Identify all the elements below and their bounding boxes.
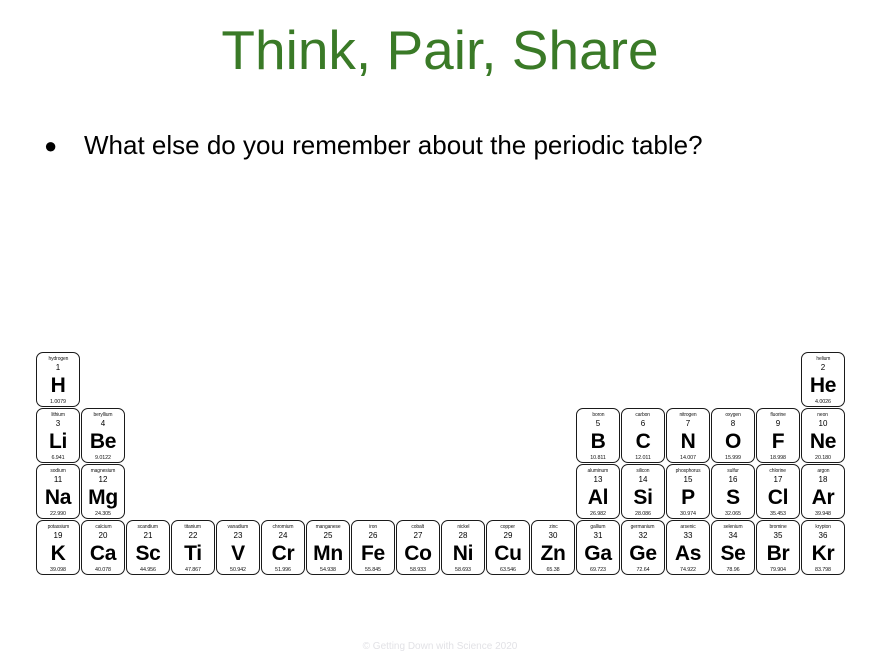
element-symbol: He xyxy=(810,374,836,398)
element-atomic-mass: 14.007 xyxy=(680,455,696,462)
element-name: gallium xyxy=(591,524,606,531)
element-cell: titanium22Ti47.867 xyxy=(171,520,215,575)
element-symbol: V xyxy=(231,542,245,566)
element-symbol: Be xyxy=(90,430,116,454)
element-name: neon xyxy=(818,412,829,419)
element-atomic-number: 21 xyxy=(144,531,153,541)
element-atomic-mass: 39.098 xyxy=(50,567,66,574)
element-name: nitrogen xyxy=(679,412,696,419)
element-name: copper xyxy=(501,524,516,531)
element-symbol: P xyxy=(681,486,695,510)
element-cell: copper29Cu63.546 xyxy=(486,520,530,575)
element-symbol: Se xyxy=(720,542,745,566)
element-cell: vanadium23V50.942 xyxy=(216,520,260,575)
element-symbol: Ge xyxy=(629,542,656,566)
element-atomic-number: 26 xyxy=(369,531,378,541)
element-name: oxygen xyxy=(725,412,740,419)
element-atomic-mass: 18.998 xyxy=(770,455,786,462)
element-symbol: Si xyxy=(633,486,652,510)
element-atomic-mass: 4.0026 xyxy=(815,399,831,406)
element-cell: calcium20Ca40.078 xyxy=(81,520,125,575)
element-cell: arsenic33As74.922 xyxy=(666,520,710,575)
element-name: arsenic xyxy=(680,524,695,531)
element-atomic-number: 18 xyxy=(819,475,828,485)
element-cell: nickel28Ni58.693 xyxy=(441,520,485,575)
element-cell: chromium24Cr51.996 xyxy=(261,520,305,575)
element-name: zinc xyxy=(549,524,557,531)
element-symbol: Sc xyxy=(135,542,160,566)
element-cell: aluminum13Al26.982 xyxy=(576,464,620,519)
element-symbol: Fe xyxy=(361,542,385,566)
element-name: magnesium xyxy=(91,468,116,475)
element-atomic-number: 33 xyxy=(684,531,693,541)
element-symbol: Ne xyxy=(810,430,836,454)
element-name: manganese xyxy=(316,524,341,531)
element-cell: argon18Ar39.948 xyxy=(801,464,845,519)
element-symbol: As xyxy=(675,542,701,566)
element-symbol: Zn xyxy=(540,542,565,566)
footer-credit: © Getting Down with Science 2020 xyxy=(0,640,880,653)
element-atomic-number: 8 xyxy=(731,419,735,429)
element-atomic-mass: 79.904 xyxy=(770,567,786,574)
element-atomic-number: 9 xyxy=(776,419,780,429)
element-name: selenium xyxy=(724,524,743,531)
element-atomic-mass: 20.180 xyxy=(815,455,831,462)
element-name: potassium xyxy=(47,524,69,531)
element-atomic-mass: 30.974 xyxy=(680,511,696,518)
element-atomic-number: 31 xyxy=(594,531,603,541)
element-atomic-mass: 74.922 xyxy=(680,567,696,574)
element-name: aluminum xyxy=(588,468,609,475)
element-symbol: Mn xyxy=(313,542,343,566)
element-atomic-mass: 44.956 xyxy=(140,567,156,574)
element-cell: selenium34Se78.96 xyxy=(711,520,755,575)
element-name: nickel xyxy=(457,524,469,531)
element-name: hydrogen xyxy=(48,356,68,363)
element-name: sodium xyxy=(50,468,65,475)
element-symbol: Cl xyxy=(768,486,788,510)
element-symbol: Cr xyxy=(272,542,295,566)
element-atomic-mass: 83.798 xyxy=(815,567,831,574)
element-name: iron xyxy=(369,524,377,531)
element-atomic-number: 4 xyxy=(101,419,105,429)
element-symbol: Cu xyxy=(494,542,521,566)
periodic-table: hydrogen1H1.0079helium2He4.0026lithium3L… xyxy=(36,352,846,580)
page-title: Think, Pair, Share xyxy=(0,18,880,82)
element-symbol: Co xyxy=(404,542,431,566)
element-atomic-number: 34 xyxy=(729,531,738,541)
element-symbol: O xyxy=(725,430,741,454)
element-atomic-number: 19 xyxy=(54,531,63,541)
element-name: krypton xyxy=(815,524,830,531)
element-atomic-number: 22 xyxy=(189,531,198,541)
element-atomic-number: 23 xyxy=(234,531,243,541)
element-cell: phosphorus15P30.974 xyxy=(666,464,710,519)
element-atomic-mass: 40.078 xyxy=(95,567,111,574)
element-cell: fluorine9F18.998 xyxy=(756,408,800,463)
element-atomic-mass: 78.96 xyxy=(727,567,740,574)
element-atomic-mass: 65.38 xyxy=(547,567,560,574)
element-atomic-mass: 58.933 xyxy=(410,567,426,574)
element-atomic-number: 2 xyxy=(821,363,825,373)
element-name: silicon xyxy=(636,468,649,475)
element-atomic-number: 3 xyxy=(56,419,60,429)
element-symbol: C xyxy=(636,430,651,454)
element-name: beryllium xyxy=(94,412,113,419)
element-symbol: Ar xyxy=(812,486,835,510)
element-name: helium xyxy=(816,356,830,363)
element-cell: sulfur16S32.065 xyxy=(711,464,755,519)
element-atomic-number: 10 xyxy=(819,419,828,429)
element-atomic-mass: 10.811 xyxy=(590,455,606,462)
element-atomic-mass: 28.086 xyxy=(635,511,651,518)
element-atomic-number: 13 xyxy=(594,475,603,485)
element-cell: manganese25Mn54.938 xyxy=(306,520,350,575)
element-symbol: Mg xyxy=(88,486,118,510)
element-cell: krypton36Kr83.798 xyxy=(801,520,845,575)
element-atomic-number: 35 xyxy=(774,531,783,541)
element-symbol: Kr xyxy=(812,542,835,566)
bullet-point-icon: ● xyxy=(40,126,84,165)
element-atomic-mass: 26.982 xyxy=(590,511,606,518)
element-symbol: Ca xyxy=(90,542,116,566)
element-symbol: B xyxy=(591,430,606,454)
element-atomic-mass: 12.011 xyxy=(635,455,651,462)
element-atomic-mass: 58.693 xyxy=(455,567,471,574)
element-name: bromine xyxy=(769,524,786,531)
element-atomic-number: 17 xyxy=(774,475,783,485)
element-cell: zinc30Zn65.38 xyxy=(531,520,575,575)
element-atomic-number: 15 xyxy=(684,475,693,485)
element-atomic-number: 24 xyxy=(279,531,288,541)
slide-canvas: Think, Pair, Share ● What else do you re… xyxy=(0,0,880,660)
element-name: carbon xyxy=(636,412,651,419)
element-cell: carbon6C12.011 xyxy=(621,408,665,463)
element-atomic-mass: 32.065 xyxy=(725,511,741,518)
element-atomic-mass: 47.867 xyxy=(185,567,201,574)
element-atomic-mass: 51.996 xyxy=(275,567,291,574)
element-cell: sodium11Na22.990 xyxy=(36,464,80,519)
element-atomic-number: 20 xyxy=(99,531,108,541)
element-atomic-mass: 54.938 xyxy=(320,567,336,574)
element-symbol: Ga xyxy=(584,542,611,566)
element-symbol: H xyxy=(51,374,66,398)
element-name: scandium xyxy=(138,524,158,531)
element-atomic-mass: 63.546 xyxy=(500,567,516,574)
element-cell: cobalt27Co58.933 xyxy=(396,520,440,575)
element-symbol: Li xyxy=(49,430,67,454)
element-cell: neon10Ne20.180 xyxy=(801,408,845,463)
element-cell: boron5B10.811 xyxy=(576,408,620,463)
element-atomic-mass: 69.723 xyxy=(590,567,606,574)
element-atomic-mass: 50.942 xyxy=(230,567,246,574)
element-cell: hydrogen1H1.0079 xyxy=(36,352,80,407)
element-atomic-number: 11 xyxy=(54,475,62,485)
element-atomic-number: 27 xyxy=(414,531,423,541)
element-name: titanium xyxy=(185,524,202,531)
element-atomic-number: 29 xyxy=(504,531,513,541)
element-atomic-number: 5 xyxy=(596,419,600,429)
element-symbol: K xyxy=(51,542,66,566)
element-atomic-mass: 22.990 xyxy=(50,511,66,518)
element-atomic-number: 32 xyxy=(639,531,648,541)
element-cell: germanium32Ge72.64 xyxy=(621,520,665,575)
element-atomic-number: 12 xyxy=(99,475,108,485)
element-cell: beryllium4Be9.0122 xyxy=(81,408,125,463)
element-name: chromium xyxy=(273,524,294,531)
element-cell: scandium21Sc44.956 xyxy=(126,520,170,575)
bullet-item-label: What else do you remember about the peri… xyxy=(84,126,830,165)
element-symbol: N xyxy=(681,430,696,454)
element-symbol: Ti xyxy=(184,542,202,566)
element-cell: oxygen8O15.999 xyxy=(711,408,755,463)
element-atomic-number: 14 xyxy=(639,475,648,485)
element-cell: gallium31Ga69.723 xyxy=(576,520,620,575)
element-atomic-number: 7 xyxy=(686,419,690,429)
element-name: germanium xyxy=(631,524,655,531)
element-name: sulfur xyxy=(727,468,738,475)
element-atomic-mass: 35.453 xyxy=(770,511,786,518)
element-name: vanadium xyxy=(228,524,249,531)
element-cell: silicon14Si28.086 xyxy=(621,464,665,519)
element-atomic-number: 28 xyxy=(459,531,468,541)
element-symbol: Al xyxy=(588,486,608,510)
element-symbol: F xyxy=(772,430,785,454)
element-symbol: Br xyxy=(767,542,790,566)
element-atomic-mass: 24.305 xyxy=(95,511,111,518)
element-name: calcium xyxy=(95,524,111,531)
element-atomic-number: 1 xyxy=(56,363,60,373)
element-cell: chlorine17Cl35.453 xyxy=(756,464,800,519)
element-atomic-number: 30 xyxy=(549,531,558,541)
element-symbol: Ni xyxy=(453,542,473,566)
element-name: lithium xyxy=(51,412,65,419)
element-atomic-number: 16 xyxy=(729,475,738,485)
element-name: cobalt xyxy=(412,524,425,531)
element-name: argon xyxy=(817,468,829,475)
element-name: phosphorus xyxy=(676,468,701,475)
element-cell: helium2He4.0026 xyxy=(801,352,845,407)
element-name: fluorine xyxy=(770,412,785,419)
element-atomic-mass: 39.948 xyxy=(815,511,831,518)
element-cell: magnesium12Mg24.305 xyxy=(81,464,125,519)
element-cell: nitrogen7N14.007 xyxy=(666,408,710,463)
element-atomic-number: 36 xyxy=(819,531,828,541)
list-item: ● What else do you remember about the pe… xyxy=(40,126,830,165)
element-symbol: S xyxy=(726,486,740,510)
element-name: boron xyxy=(592,412,604,419)
element-atomic-mass: 6.941 xyxy=(52,455,65,462)
element-cell: iron26Fe55.845 xyxy=(351,520,395,575)
bullet-list: ● What else do you remember about the pe… xyxy=(40,126,830,165)
element-atomic-mass: 72.64 xyxy=(637,567,650,574)
element-cell: lithium3Li6.941 xyxy=(36,408,80,463)
element-atomic-mass: 15.999 xyxy=(725,455,741,462)
element-symbol: Na xyxy=(45,486,71,510)
element-atomic-mass: 1.0079 xyxy=(50,399,66,406)
element-cell: potassium19K39.098 xyxy=(36,520,80,575)
element-cell: bromine35Br79.904 xyxy=(756,520,800,575)
element-atomic-number: 6 xyxy=(641,419,645,429)
element-atomic-number: 25 xyxy=(324,531,333,541)
element-atomic-mass: 55.845 xyxy=(365,567,381,574)
element-name: chlorine xyxy=(770,468,787,475)
element-atomic-mass: 9.0122 xyxy=(95,455,111,462)
